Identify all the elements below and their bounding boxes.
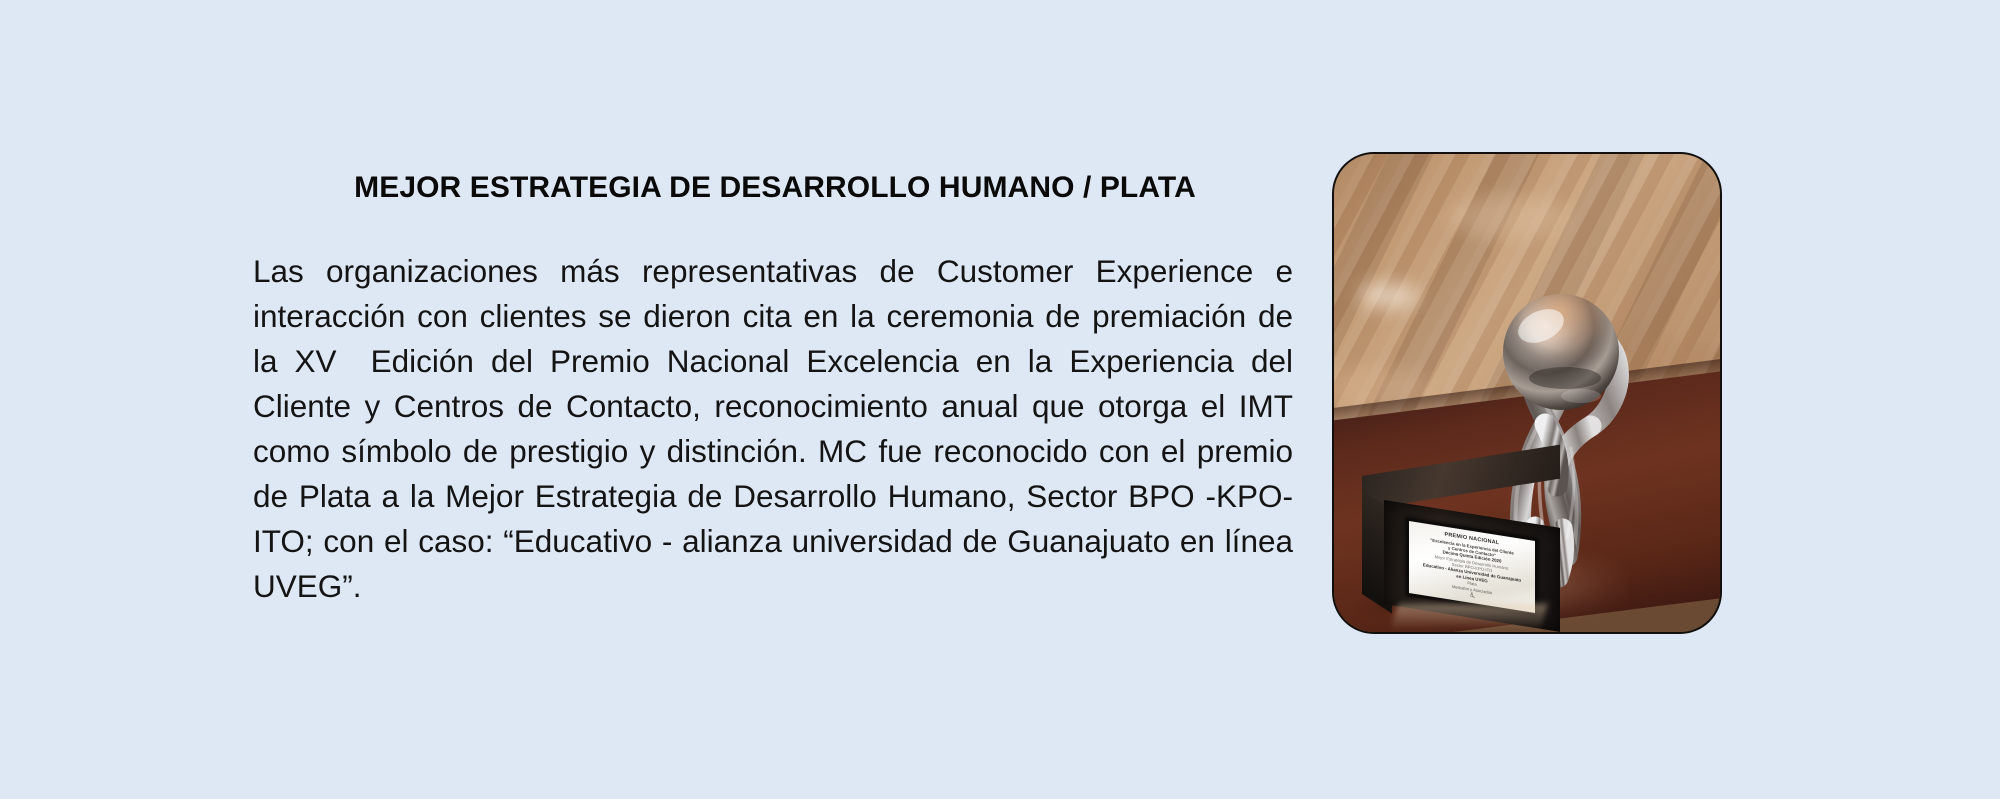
text-column: MEJOR ESTRATEGIA DE DESARROLLO HUMANO / … — [253, 168, 1293, 609]
award-description-paragraph: Las organizaciones más representativas d… — [253, 249, 1293, 609]
page-title: MEJOR ESTRATEGIA DE DESARROLLO HUMANO / … — [253, 168, 1293, 208]
plaque-plate: PREMIO NACIONAL "Excelencia en la Experi… — [1409, 521, 1535, 613]
trophy-photograph: PREMIO NACIONAL "Excelencia en la Experi… — [1332, 152, 1722, 634]
slide-canvas: MEJOR ESTRATEGIA DE DESARROLLO HUMANO / … — [0, 0, 2000, 799]
photo-content: PREMIO NACIONAL "Excelencia en la Experi… — [1334, 154, 1720, 632]
base-reflection — [1390, 604, 1547, 630]
trophy-base: PREMIO NACIONAL "Excelencia en la Experi… — [1362, 476, 1560, 606]
